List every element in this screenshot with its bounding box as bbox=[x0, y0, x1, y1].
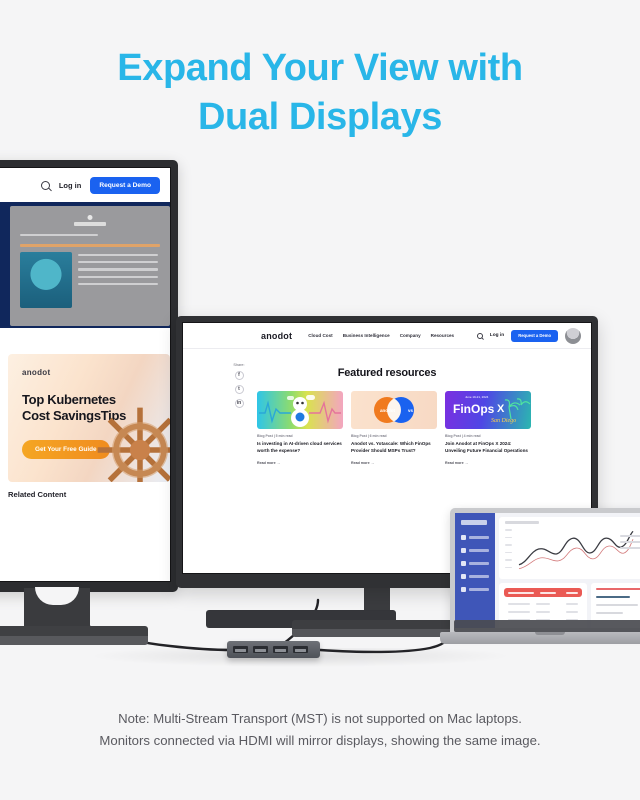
avatar[interactable] bbox=[565, 328, 581, 344]
table-header-row bbox=[504, 588, 582, 597]
main-monitor-base-front bbox=[292, 629, 464, 637]
main-nav: Cloud Cost Business Intelligence Company… bbox=[308, 333, 454, 338]
left-site-header: Log in Request a Demo bbox=[0, 168, 170, 202]
banner-date: June 19-21, 2024 bbox=[465, 395, 489, 399]
sidebar-menu bbox=[461, 535, 495, 592]
svg-text:vs: vs bbox=[408, 408, 414, 413]
venn-diagram-orange-blue-illustration: anodot vs bbox=[351, 391, 437, 429]
stat-bar-2 bbox=[596, 596, 630, 598]
svg-text:FinOps: FinOps bbox=[453, 402, 495, 416]
svg-text:anodot: anodot bbox=[380, 408, 395, 413]
request-demo-button[interactable]: Request a Demo bbox=[90, 177, 160, 194]
site-logo[interactable]: anodot bbox=[261, 331, 292, 341]
ship-wheel-icon bbox=[94, 404, 170, 482]
sidebar-item-billing[interactable] bbox=[461, 574, 495, 579]
left-monitor-base-front bbox=[0, 636, 148, 645]
resource-card[interactable]: June 19-21, 2024 FinOps X San Diego Blog… bbox=[445, 391, 531, 465]
card-title: Is investing in AI-driven cloud services… bbox=[257, 441, 343, 454]
promo-card[interactable]: anodot Top Kubernetes Cost SavingsTips G… bbox=[8, 354, 170, 482]
card-title: Join Anodot at FinOps X 2024: Unveiling … bbox=[445, 441, 531, 454]
hero-text-lines bbox=[78, 254, 158, 290]
laptop bbox=[440, 508, 640, 658]
left-hero-banner bbox=[0, 202, 170, 328]
twitter-icon[interactable]: t bbox=[235, 385, 244, 394]
left-monitor-screen: Log in Request a Demo bbox=[0, 167, 171, 582]
table-row bbox=[504, 603, 582, 605]
sidebar-item-settings[interactable] bbox=[461, 587, 495, 592]
footer-note: Note: Multi-Stream Transport (MST) is no… bbox=[0, 708, 640, 752]
laptop-keyboard bbox=[454, 620, 640, 632]
sidebar-brand bbox=[461, 520, 487, 525]
hero-logo-mark bbox=[88, 215, 93, 220]
usb-c-hub bbox=[227, 641, 320, 658]
hero-accent-bar bbox=[20, 244, 160, 247]
promo-brand-logo: anodot bbox=[22, 368, 50, 377]
finops-x-san-diego-banner: June 19-21, 2024 FinOps X San Diego bbox=[445, 391, 531, 429]
usb-port-1 bbox=[233, 646, 248, 653]
nav-item-resources[interactable]: Resources bbox=[431, 333, 455, 338]
line-chart bbox=[517, 529, 635, 573]
featured-resources-list: Blog Post | 5 min read Is investing in A… bbox=[257, 391, 531, 465]
login-link[interactable]: Log in bbox=[59, 181, 82, 190]
nav-item-business-intelligence[interactable]: Business Intelligence bbox=[343, 333, 390, 338]
card-title: Anodot vs. Yotascale: Which FinOps Provi… bbox=[351, 441, 437, 454]
stat-bar-1 bbox=[596, 588, 640, 590]
svg-text:San Diego: San Diego bbox=[491, 418, 516, 424]
footer-note-line-2: Monitors connected via HDMI will mirror … bbox=[0, 730, 640, 752]
left-hero-card bbox=[10, 206, 170, 326]
left-monitor-neck bbox=[24, 588, 90, 630]
hero-text-bar bbox=[20, 234, 98, 236]
svg-text:X: X bbox=[497, 403, 505, 415]
nav-item-company[interactable]: Company bbox=[400, 333, 421, 338]
chart-title-placeholder bbox=[505, 521, 539, 524]
laptop-lid bbox=[450, 508, 640, 634]
card-meta: Blog Post | 4 min read bbox=[445, 434, 531, 438]
chart-legend-placeholder bbox=[620, 535, 640, 553]
read-more-link[interactable]: Read more → bbox=[445, 461, 531, 465]
laptop-trackpad-notch bbox=[535, 632, 565, 635]
stat-bar-4 bbox=[596, 612, 623, 614]
dashboard-main bbox=[499, 517, 640, 625]
usb-port-4 bbox=[293, 646, 308, 653]
search-icon[interactable] bbox=[477, 333, 483, 339]
nav-item-cloud-cost[interactable]: Cloud Cost bbox=[308, 333, 333, 338]
read-more-link[interactable]: Read more → bbox=[351, 461, 437, 465]
linkedin-icon[interactable]: in bbox=[235, 399, 244, 408]
table-row bbox=[504, 611, 582, 613]
left-monitor: Log in Request a Demo bbox=[0, 160, 178, 592]
stat-bar-3 bbox=[596, 604, 638, 606]
ai-robot-gradient-illustration bbox=[257, 391, 343, 429]
laptop-screen bbox=[455, 513, 640, 628]
main-site-header: anodot Cloud Cost Business Intelligence … bbox=[183, 323, 591, 349]
sidebar-item-reports[interactable] bbox=[461, 561, 495, 566]
sidebar-item-dashboard[interactable] bbox=[461, 535, 495, 540]
main-nav-actions: Log in Request a Demo bbox=[477, 328, 581, 344]
related-content-label: Related Content bbox=[8, 490, 66, 499]
usb-ports bbox=[233, 646, 308, 653]
line-chart-card bbox=[499, 517, 640, 579]
login-link[interactable]: Log in bbox=[490, 333, 504, 338]
read-more-link[interactable]: Read more → bbox=[257, 461, 343, 465]
resource-card[interactable]: Blog Post | 5 min read Is investing in A… bbox=[257, 391, 343, 465]
search-icon[interactable] bbox=[41, 181, 50, 190]
request-demo-button[interactable]: Request a Demo bbox=[511, 330, 558, 342]
card-meta: Blog Post | 5 min read bbox=[257, 434, 343, 438]
sidebar-item-analytics[interactable] bbox=[461, 548, 495, 553]
hero-thumbnail bbox=[20, 252, 72, 308]
usb-port-3 bbox=[273, 646, 288, 653]
dashboard-sidebar bbox=[455, 513, 495, 628]
hero-logo-bar bbox=[74, 222, 106, 226]
chart-y-axis bbox=[505, 529, 512, 574]
product-scene: Log in Request a Demo bbox=[0, 0, 640, 800]
usb-port-2 bbox=[253, 646, 268, 653]
section-title: Featured resources bbox=[183, 367, 591, 379]
footer-note-line-1: Note: Multi-Stream Transport (MST) is no… bbox=[0, 708, 640, 730]
resource-card[interactable]: anodot vs Blog Post | 6 min read Anodot … bbox=[351, 391, 437, 465]
card-meta: Blog Post | 6 min read bbox=[351, 434, 437, 438]
